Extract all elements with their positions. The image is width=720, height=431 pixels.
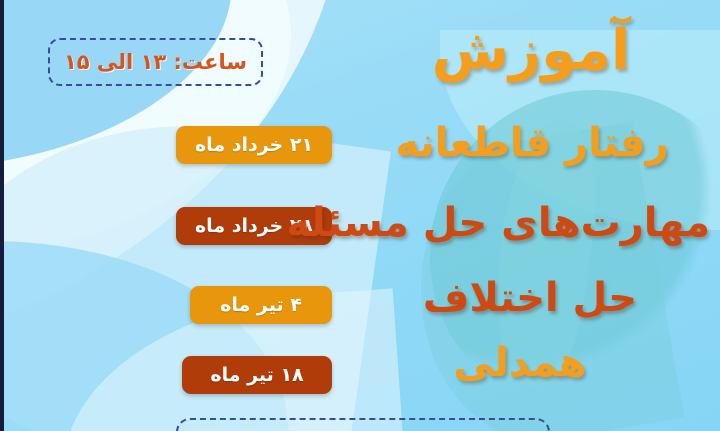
topic-session-3: حل اختلاف bbox=[360, 275, 720, 321]
topic-session-4: همدلی bbox=[360, 340, 720, 386]
time-badge: ساعت: ۱۳ الی ۱۵ bbox=[48, 38, 263, 86]
poster-title: آموزش bbox=[360, 18, 720, 83]
date-badge-label: ۱۸ تیر ماه bbox=[210, 364, 303, 386]
time-badge-label: ساعت: ۱۳ الی ۱۵ bbox=[64, 50, 247, 74]
date-badge-session-1: ۲۱ خرداد ماه bbox=[176, 126, 332, 164]
frame-edge-left bbox=[0, 0, 4, 431]
date-badge-session-4: ۱۸ تیر ماه bbox=[182, 356, 332, 394]
topics-column: آموزش رفتار قاطعانه مهارت‌های حل مسئله ح… bbox=[360, 0, 720, 431]
date-badge-label: ۴ تیر ماه bbox=[220, 294, 302, 316]
topic-session-1: رفتار قاطعانه bbox=[360, 120, 720, 166]
date-badge-session-3: ۴ تیر ماه bbox=[190, 286, 332, 324]
topic-session-2: مهارت‌های حل مسئله bbox=[360, 200, 720, 246]
date-badge-label: ۲۱ خرداد ماه bbox=[195, 134, 313, 156]
bottom-dashed-panel bbox=[176, 418, 550, 431]
poster-canvas: ساعت: ۱۳ الی ۱۵ ۲۱ خرداد ماه ۲۸ خرداد ما… bbox=[0, 0, 720, 431]
